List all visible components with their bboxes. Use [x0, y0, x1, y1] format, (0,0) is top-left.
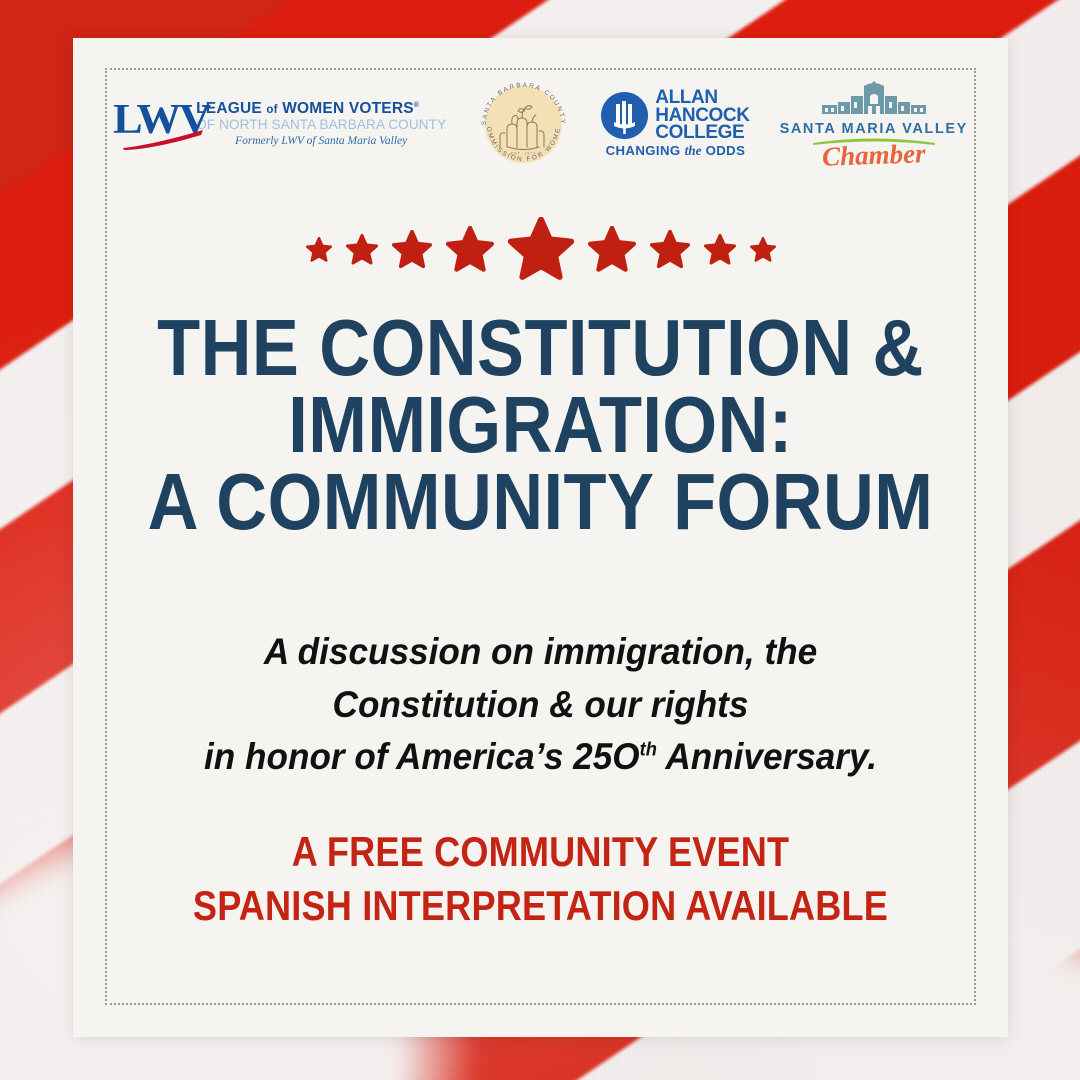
poster-card: LWV LEAGUE of WOMEN VOTERS® OF NORTH SAN…	[73, 38, 1008, 1037]
subtitle: A discussion on immigration, the Constit…	[125, 626, 956, 784]
chamber-line1: SANTA MARIA VALLEY	[780, 121, 968, 137]
star-6	[588, 226, 636, 274]
svg-text:COMMISSION FOR WOMEN: COMMISSION FOR WOMEN	[476, 77, 562, 163]
lwv-line2: OF NORTH SANTA BARBARA COUNTY	[196, 118, 446, 132]
ahc-top-row: ALLAN HANCOCK COLLEGE	[601, 89, 749, 141]
star-7	[650, 230, 690, 270]
ahc-name: ALLAN HANCOCK COLLEGE	[655, 89, 749, 141]
lwv-line3: Formerly LWV of Santa Maria Valley	[196, 136, 446, 148]
star-5	[508, 217, 574, 283]
title-line-1: THE CONSTITUTION &	[140, 310, 942, 387]
star-2	[346, 234, 378, 266]
title-line-3: A COMMUNITY FORUM	[140, 464, 942, 541]
santa-maria-valley-chamber-logo: SANTA MARIA VALLEY Chamber	[780, 80, 968, 167]
lwv-wordmark-icon: LWV	[113, 99, 189, 149]
mission-buildings-icon	[808, 80, 940, 120]
ahc-line3: COLLEGE	[655, 124, 749, 141]
raised-fists-icon	[500, 105, 544, 149]
lwv-swoosh-icon	[121, 130, 205, 150]
star-9	[750, 237, 776, 263]
title-line-2: IMMIGRATION:	[140, 387, 942, 464]
cta-line-1: A FREE COMMUNITY EVENT	[156, 825, 926, 879]
call-to-action: A FREE COMMUNITY EVENT SPANISH INTERPRET…	[156, 825, 926, 933]
subtitle-line-2: Constitution & our rights	[125, 679, 956, 732]
seal-est: EST. 1973	[511, 151, 537, 155]
svg-text:SANTA BARBARA COUNTY: SANTA BARBARA COUNTY	[481, 81, 566, 125]
star-4	[446, 226, 494, 274]
page-title: THE CONSTITUTION & IMMIGRATION: A COMMUN…	[140, 310, 942, 540]
lwv-text-block: LEAGUE of WOMEN VOTERS® OF NORTH SANTA B…	[196, 101, 446, 148]
ahc-tagline: CHANGING the ODDS	[606, 143, 746, 159]
chamber-script: Chamber	[822, 142, 926, 170]
star-3	[392, 230, 432, 270]
cta-line-2: SPANISH INTERPRETATION AVAILABLE	[156, 879, 926, 933]
seal-arc-bottom: COMMISSION FOR WOMEN	[476, 77, 562, 163]
lwv-line1: LEAGUE of WOMEN VOTERS®	[196, 101, 446, 117]
seal-artwork: SANTA BARBARA COUNTY COMMISSION FOR WOME…	[476, 77, 571, 172]
allan-hancock-college-logo: ALLAN HANCOCK COLLEGE CHANGING the ODDS	[601, 89, 749, 158]
partner-logo-row: LWV LEAGUE of WOMEN VOTERS® OF NORTH SAN…	[73, 68, 1008, 180]
seal-arc-top: SANTA BARBARA COUNTY	[481, 81, 566, 125]
lwv-logo: LWV LEAGUE of WOMEN VOTERS® OF NORTH SAN…	[113, 99, 446, 149]
sb-commission-for-women-seal: SANTA BARBARA COUNTY COMMISSION FOR WOME…	[476, 77, 571, 172]
star-8	[704, 234, 736, 266]
subtitle-line-1: A discussion on immigration, the	[125, 626, 956, 679]
subtitle-line-3: in honor of America’s 25Oth Anniversary.	[125, 731, 956, 784]
star-divider	[73, 206, 1008, 294]
star-1	[306, 237, 332, 263]
ahc-torch-icon	[601, 92, 648, 139]
